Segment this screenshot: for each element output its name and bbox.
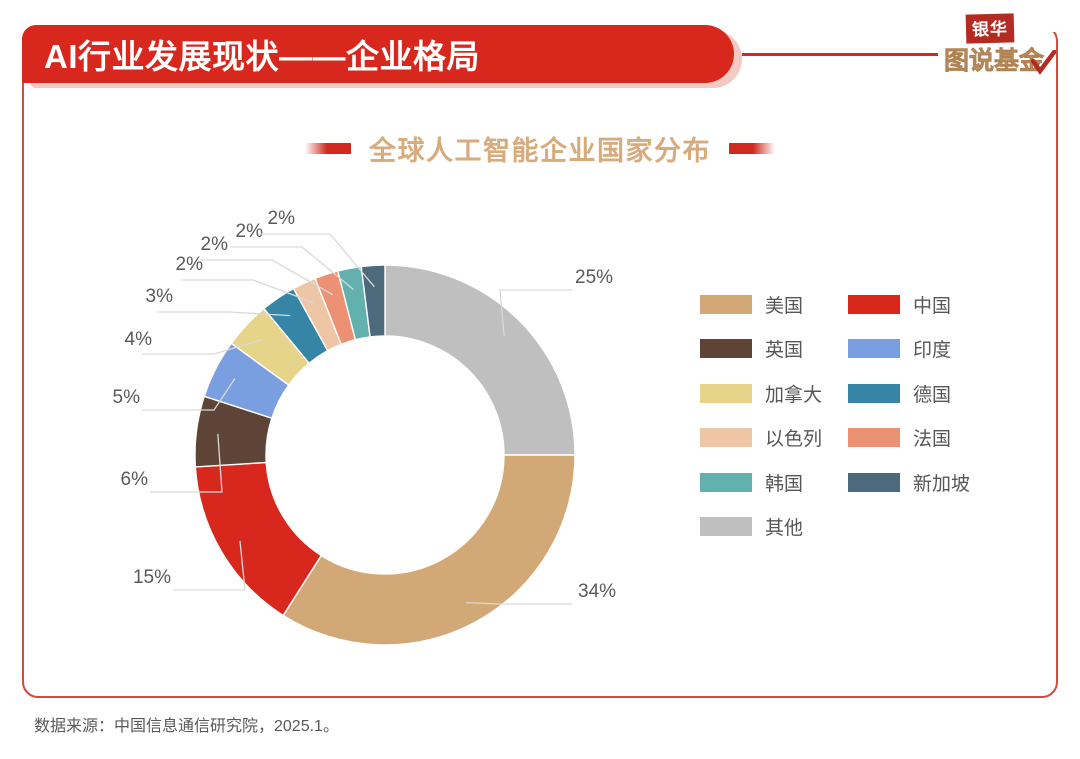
pie-value-label: 34%: [578, 581, 616, 602]
pie-slice[interactable]: [385, 265, 575, 455]
pie-value-label: 4%: [125, 329, 153, 350]
pie-value-label: 2%: [268, 208, 296, 229]
legend-swatch: [700, 428, 752, 447]
legend-label: 新加坡: [913, 469, 970, 496]
chart-legend: 美国中国英国印度加拿大德国以色列法国韩国新加坡其他: [700, 282, 1030, 549]
slide-root: AI行业发展现状——企业格局 银华 图说基金 全球人工智能企业国家分布 25%3…: [0, 0, 1080, 759]
legend-label: 加拿大: [765, 380, 822, 407]
leader-line: [466, 603, 572, 604]
header-rule: [742, 53, 938, 56]
legend-item[interactable]: 以色列: [700, 424, 848, 451]
pie-value-label: 2%: [176, 254, 204, 275]
legend-label: 法国: [913, 424, 951, 451]
legend-item[interactable]: 加拿大: [700, 380, 848, 407]
legend-item[interactable]: 英国: [700, 335, 848, 362]
pie-value-label: 6%: [121, 469, 149, 490]
title-dash-left-icon: [305, 143, 351, 154]
logo-brand-text: 银华: [966, 13, 1015, 43]
legend-item[interactable]: 美国: [700, 291, 848, 318]
legend-swatch: [848, 428, 900, 447]
pie-slice[interactable]: [283, 455, 575, 645]
legend-label: 美国: [765, 291, 803, 318]
legend-item[interactable]: 其他: [700, 513, 848, 540]
pie-value-label: 15%: [133, 567, 171, 588]
legend-item[interactable]: 新加坡: [848, 469, 996, 496]
legend-swatch: [848, 384, 900, 403]
chart-title-row: 全球人工智能企业国家分布: [0, 129, 1080, 168]
legend-label: 以色列: [765, 424, 822, 451]
legend-label: 中国: [913, 291, 951, 318]
legend-swatch: [700, 384, 752, 403]
legend-swatch: [700, 295, 752, 314]
legend-label: 德国: [913, 380, 951, 407]
legend-swatch: [848, 295, 900, 314]
donut-chart: 25%34%15%6%5%4%3%2%2%2%2%: [0, 180, 700, 680]
legend-label: 英国: [765, 335, 803, 362]
header-banner: AI行业发展现状——企业格局: [22, 25, 734, 83]
legend-item[interactable]: 德国: [848, 380, 996, 407]
brand-logo: 银华 图说基金: [944, 14, 1056, 90]
pie-value-label: 3%: [146, 286, 174, 307]
chart-title: 全球人工智能企业国家分布: [369, 129, 711, 168]
legend-item[interactable]: 韩国: [700, 469, 848, 496]
legend-label: 其他: [765, 513, 803, 540]
check-icon: [1030, 50, 1056, 76]
logo-series-text: 图说基金: [944, 41, 1044, 77]
pie-value-label: 2%: [236, 221, 264, 242]
legend-swatch: [700, 517, 752, 536]
pie-value-label: 5%: [113, 387, 141, 408]
legend-item[interactable]: 法国: [848, 424, 996, 451]
legend-swatch: [848, 473, 900, 492]
legend-swatch: [700, 473, 752, 492]
page-title: AI行业发展现状——企业格局: [22, 30, 480, 78]
title-dash-right-icon: [729, 143, 775, 154]
legend-swatch: [700, 339, 752, 358]
legend-label: 韩国: [765, 469, 803, 496]
pie-value-label: 2%: [201, 234, 229, 255]
legend-item[interactable]: 中国: [848, 291, 996, 318]
data-source-note: 数据来源：中国信息通信研究院，2025.1。: [34, 712, 339, 736]
legend-swatch: [848, 339, 900, 358]
legend-item[interactable]: 印度: [848, 335, 996, 362]
legend-label: 印度: [913, 335, 951, 362]
pie-value-label: 25%: [575, 267, 613, 288]
